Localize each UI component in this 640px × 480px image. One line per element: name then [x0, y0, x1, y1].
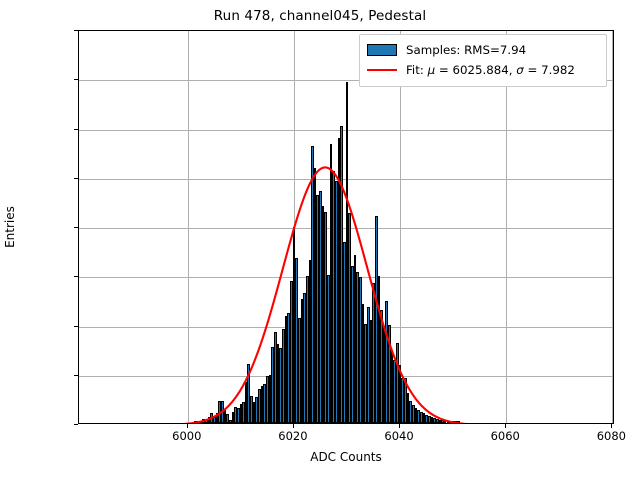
legend-item-samples: Samples: RMS=7.94: [367, 40, 599, 60]
y-tick-mark: [74, 276, 78, 277]
legend-item-fit: Fit: μ = 6025.884, σ = 7.982: [367, 60, 599, 80]
x-tick-mark: [611, 424, 612, 428]
y-tick-mark: [74, 79, 78, 80]
x-tick-label: 6060: [491, 429, 520, 443]
y-tick-mark: [74, 326, 78, 327]
legend: Samples: RMS=7.94 Fit: μ = 6025.884, σ =…: [359, 34, 607, 87]
x-tick-label: 6020: [278, 429, 307, 443]
x-tick-mark: [399, 424, 400, 428]
y-tick-mark: [74, 227, 78, 228]
x-tick-label: 6000: [172, 429, 201, 443]
chart-figure: Run 478, channel045, Pedestal 0100002000…: [0, 0, 640, 480]
y-axis-label: Entries: [3, 206, 17, 248]
y-tick-mark: [74, 178, 78, 179]
x-tick-mark: [505, 424, 506, 428]
legend-swatch-line-icon: [367, 69, 397, 71]
legend-label-samples: Samples: RMS=7.94: [406, 43, 526, 57]
x-tick-mark: [187, 424, 188, 428]
x-tick-label: 6080: [597, 429, 626, 443]
legend-swatch-bar-icon: [367, 44, 397, 56]
x-tick-mark: [293, 424, 294, 428]
x-tick-label: 6040: [384, 429, 413, 443]
legend-label-fit: Fit: μ = 6025.884, σ = 7.982: [406, 63, 575, 77]
y-tick-mark: [74, 30, 78, 31]
y-tick-mark: [74, 375, 78, 376]
x-axis-label: ADC Counts: [310, 450, 382, 464]
y-tick-mark: [74, 129, 78, 130]
y-tick-mark: [74, 424, 78, 425]
